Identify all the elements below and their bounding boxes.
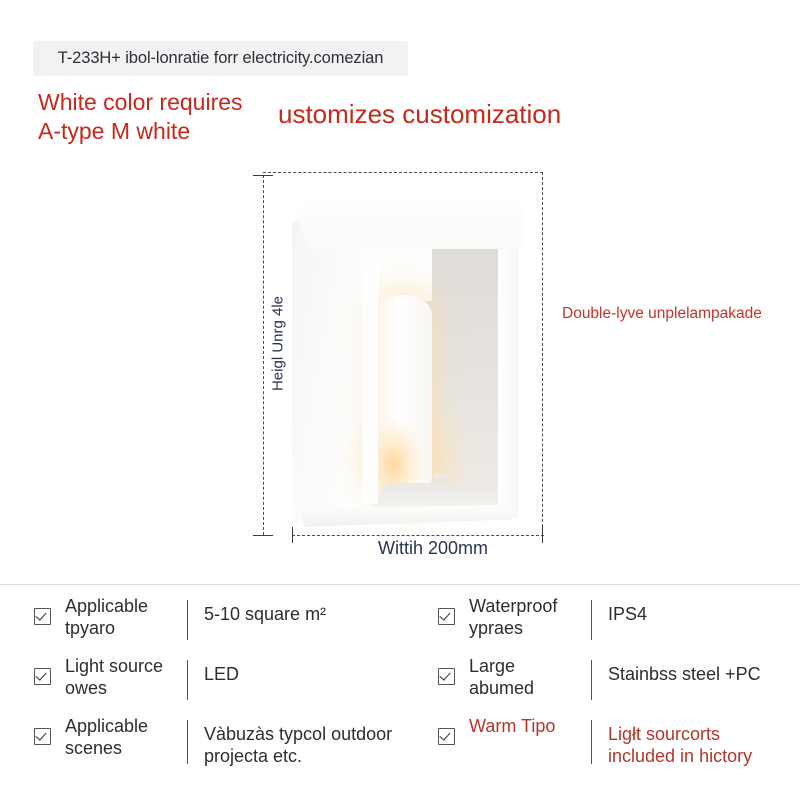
checkbox-icon[interactable] xyxy=(34,668,51,685)
product-code-text: T-233H+ ibol-lonratie forr electricity.c… xyxy=(58,49,384,68)
spec-separator xyxy=(591,600,592,640)
wall-lamp-illustration xyxy=(292,183,524,535)
lamp-diffuser xyxy=(376,295,432,497)
lamp-base-plinth xyxy=(300,505,512,527)
dimension-line-right xyxy=(542,172,543,537)
checkbox-icon[interactable] xyxy=(438,668,455,685)
spec-row: Applicable scenes Vàbuzàs typcol outdoor… xyxy=(34,716,400,768)
spec-separator xyxy=(187,600,188,640)
spec-row: Large abumed Stainbss steel +PC xyxy=(438,656,800,704)
spec-key: Light source owes xyxy=(65,656,183,700)
spec-key: Waterproof ypraes xyxy=(469,596,587,640)
spec-row: Warm Tipo Ligłt sourcorts included in hi… xyxy=(438,716,800,768)
spec-value: Vàbuzàs typcol outdoor projecta etc. xyxy=(204,716,392,768)
spec-table: Applicable tpyaro 5-10 square m² Light s… xyxy=(0,596,800,780)
dimension-tick-height-top xyxy=(253,175,273,176)
spec-key: Applicable tpyaro xyxy=(65,596,183,640)
dimension-tick-height-bottom xyxy=(253,535,273,536)
diagram-callout: Double-lyve unplelampakade xyxy=(562,305,762,323)
dimension-line-top xyxy=(263,172,543,173)
headline-secondary: ustomizes customization xyxy=(278,99,561,130)
spec-row: Waterproof ypraes IPS4 xyxy=(438,596,800,644)
spec-value: IPS4 xyxy=(608,596,647,626)
spec-value: Ligłt sourcorts included in hictory xyxy=(608,716,752,768)
dimension-line-width xyxy=(292,535,544,536)
dimension-tick-width-right xyxy=(542,527,543,543)
spec-key: Warm Tipo xyxy=(469,716,587,738)
lamp-front-frame xyxy=(498,213,518,518)
lamp-front-rail xyxy=(362,219,378,504)
spec-separator xyxy=(591,660,592,700)
product-code-chip: T-233H+ ibol-lonratie forr electricity.c… xyxy=(33,41,408,76)
spec-separator xyxy=(591,720,592,764)
headline-primary: White color requires A-type M white xyxy=(38,88,278,146)
dimension-label-width: Wittih 200mm xyxy=(378,538,488,559)
spec-separator xyxy=(187,660,188,700)
checkbox-icon[interactable] xyxy=(34,728,51,745)
checkbox-icon[interactable] xyxy=(438,728,455,745)
spec-row: Light source owes LED xyxy=(34,656,400,704)
checkbox-icon[interactable] xyxy=(438,608,455,625)
checkbox-icon[interactable] xyxy=(34,608,51,625)
spec-value: Stainbss steel +PC xyxy=(608,656,761,686)
spec-column-right: Waterproof ypraes IPS4 Large abumed Stai… xyxy=(400,596,800,780)
spec-value: LED xyxy=(204,656,239,686)
spec-row: Applicable tpyaro 5-10 square m² xyxy=(34,596,400,644)
spec-value: 5-10 square m² xyxy=(204,596,326,626)
product-diagram: Heigl Unrg 4le Wittih 200mm Double-lyve … xyxy=(0,150,800,570)
spec-key: Large abumed xyxy=(469,656,587,700)
lamp-top-cap xyxy=(292,191,524,249)
dimension-label-height: Heigl Unrg 4le xyxy=(270,284,287,404)
spec-divider xyxy=(0,584,800,585)
dimension-line-height xyxy=(263,175,264,535)
spec-separator xyxy=(187,720,188,764)
spec-key: Applicable scenes xyxy=(65,716,183,760)
spec-column-left: Applicable tpyaro 5-10 square m² Light s… xyxy=(0,596,400,780)
